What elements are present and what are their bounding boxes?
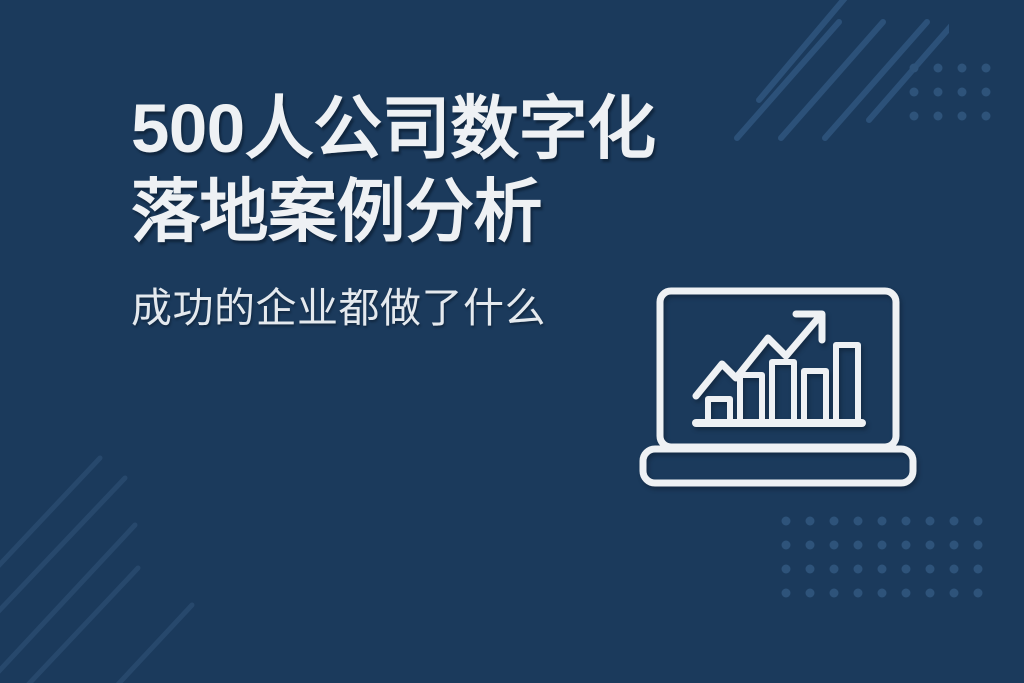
chart-bar-5 (836, 345, 858, 422)
laptop-base-outline (643, 449, 913, 483)
chart-bar-2 (740, 375, 762, 422)
page-title-line-2: 落地案例分析 (131, 169, 771, 256)
poster-canvas: 500人公司数字化 落地案例分析 成功的企业都做了什么 (0, 0, 1024, 683)
dot-grid-top-right-icon (904, 58, 1014, 138)
chart-bar-4 (804, 371, 826, 422)
chart-bar-3 (772, 362, 794, 422)
diagonal-stripes-bottom-left-icon (0, 423, 260, 683)
chart-bar-1 (708, 399, 730, 422)
laptop-growth-chart-icon (638, 286, 918, 492)
dot-grid-bottom-right-icon (776, 511, 1006, 621)
page-title-line-1: 500人公司数字化 (131, 86, 771, 173)
